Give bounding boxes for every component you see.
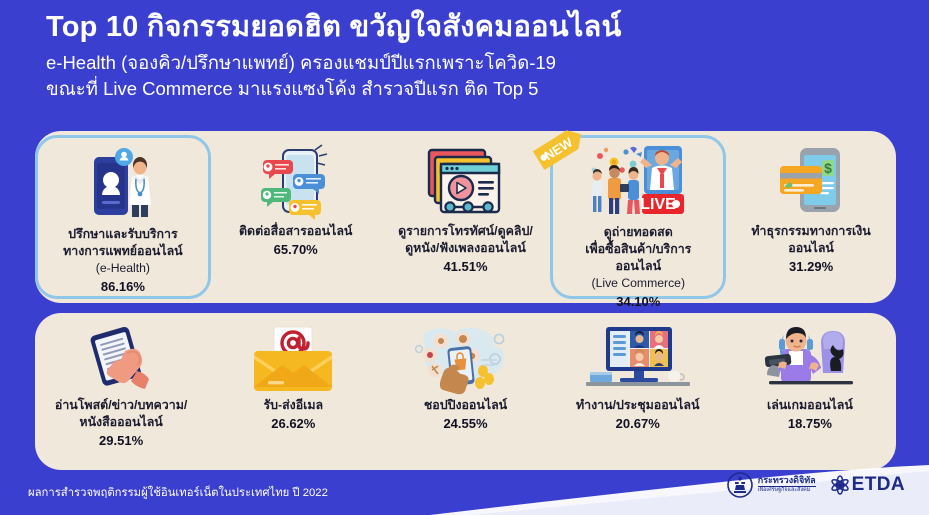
new-badge-icon: NEW [531, 126, 588, 170]
subtitle-line-2: ขณะที่ Live Commerce มาแรงแซงโค้ง สำรวจป… [46, 76, 929, 102]
activity-percent: 31.29% [789, 259, 833, 274]
ministry-emblem-icon [727, 472, 753, 498]
ministry-logo-main: กระทรวงดิจิทัล [758, 476, 816, 487]
cards-container-row-2: อ่านโพสต์/ข่าว/บทความ/ หนังสือออนไลน์ 29… [35, 313, 896, 470]
video-conference-monitor-icon [552, 323, 724, 397]
subtitle-line-1: e-Health (จองคิว/ปรึกษาแพทย์) ครองแชมป์ป… [46, 50, 929, 76]
activity-label: รับ-ส่งอีเมล [259, 397, 327, 414]
activity-card-read-online[interactable]: อ่านโพสต์/ข่าว/บทความ/ หนังสือออนไลน์ 29… [35, 313, 207, 470]
cards-panel-row-1: ปรึกษาและรับบริการ ทางการแพทย์ออนไลน์ (e… [35, 131, 896, 303]
ministry-logo: กระทรวงดิจิทัล เพื่อเศรษฐกิจและสังคม [727, 472, 816, 498]
tablet-reading-hand-icon [35, 323, 207, 397]
activity-percent: 24.55% [443, 416, 487, 431]
activity-sublabel: (e-Health) [96, 261, 150, 277]
activity-label: อ่านโพสต์/ข่าว/บทความ/ หนังสือออนไลน์ [51, 397, 191, 431]
activity-card-online-banking[interactable]: $ ทำธุรกรรมทางการเงิน ออนไลน์ 31.29% [726, 131, 896, 303]
header: Top 10 กิจกรรมยอดฮิต ขวัญใจสังคมออนไลน์ … [0, 0, 929, 103]
activity-percent: 29.51% [99, 433, 143, 448]
ministry-logo-text: กระทรวงดิจิทัล เพื่อเศรษฐกิจและสังคม [758, 476, 816, 494]
activity-percent: 18.75% [788, 416, 832, 431]
activity-percent: 65.70% [274, 242, 318, 257]
activity-percent: 41.51% [443, 259, 487, 274]
activity-label: ดูรายการโทรทัศน์/ดูคลิป/ ดูหนัง/ฟังเพลงอ… [394, 223, 537, 257]
activity-card-work-meeting-online[interactable]: ทำงาน/ประชุมออนไลน์ 20.67% [552, 313, 724, 470]
etda-logo-text: ETDA [852, 474, 905, 496]
email-envelope-icon [207, 323, 379, 397]
activity-label: ทำธุรกรรมทางการเงิน ออนไลน์ [747, 223, 874, 257]
activity-card-email[interactable]: รับ-ส่งอีเมล 26.62% [207, 313, 379, 470]
video-player-windows-icon [381, 141, 551, 223]
activity-label: ติดต่อสื่อสารออนไลน์ [235, 223, 356, 240]
doctor-phone-icon [38, 144, 208, 226]
activity-percent: 20.67% [616, 416, 660, 431]
chat-bubbles-phone-icon [211, 141, 381, 223]
activity-label: ดูถ่ายทอดสด เพื่อซื้อสินค้า/บริการ ออนไล… [581, 224, 695, 275]
activity-label: ชอปปิงออนไลน์ [420, 397, 511, 414]
activity-sublabel: (Live Commerce) [592, 276, 685, 292]
activity-card-e-health[interactable]: ปรึกษาและรับบริการ ทางการแพทย์ออนไลน์ (e… [35, 135, 211, 299]
etda-logo: ETDA [830, 474, 905, 496]
ministry-logo-sub: เพื่อเศรษฐกิจและสังคม [758, 488, 816, 494]
etda-mark-icon [830, 475, 850, 495]
activity-percent: 34.10% [616, 294, 660, 309]
activity-card-online-shopping[interactable]: ชอปปิงออนไลน์ 24.55% [379, 313, 551, 470]
credit-card-phone-icon: $ [726, 141, 896, 223]
gamer-headset-icon [724, 323, 896, 397]
activity-label: ทำงาน/ประชุมออนไลน์ [572, 397, 703, 414]
footer-logos: กระทรวงดิจิทัล เพื่อเศรษฐกิจและสังคม ETD… [727, 472, 905, 498]
activity-card-online-gaming[interactable]: เล่นเกมออนไลน์ 18.75% [724, 313, 896, 470]
activity-label: ปรึกษาและรับบริการ ทางการแพทย์ออนไลน์ [59, 226, 187, 260]
activity-percent: 26.62% [271, 416, 315, 431]
footer: ผลการสำรวจพฤติกรรมผู้ใช้อินเทอร์เน็ตในปร… [0, 465, 929, 515]
activity-percent: 86.16% [101, 279, 145, 294]
svg-text:$: $ [824, 160, 832, 176]
activity-card-watch-listen-online[interactable]: ดูรายการโทรทัศน์/ดูคลิป/ ดูหนัง/ฟังเพลงอ… [381, 131, 551, 303]
activity-card-live-commerce[interactable]: NEW [550, 135, 726, 299]
cards-panel-row-2: อ่านโพสต์/ข่าว/บทความ/ หนังสือออนไลน์ 29… [35, 313, 896, 470]
cards-container-row-1: ปรึกษาและรับบริการ ทางการแพทย์ออนไลน์ (e… [35, 131, 896, 303]
footer-source-text: ผลการสำรวจพฤติกรรมผู้ใช้อินเทอร์เน็ตในปร… [28, 483, 328, 501]
activity-label: เล่นเกมออนไลน์ [763, 397, 857, 414]
live-badge-label: LIVE [641, 196, 677, 213]
subtitle-block: e-Health (จองคิว/ปรึกษาแพทย์) ครองแชมป์ป… [46, 50, 929, 103]
activity-card-online-communication[interactable]: ติดต่อสื่อสารออนไลน์ 65.70% [211, 131, 381, 303]
online-shopping-phone-icon [379, 323, 551, 397]
page-title: Top 10 กิจกรรมยอดฮิต ขวัญใจสังคมออนไลน์ [46, 8, 929, 47]
